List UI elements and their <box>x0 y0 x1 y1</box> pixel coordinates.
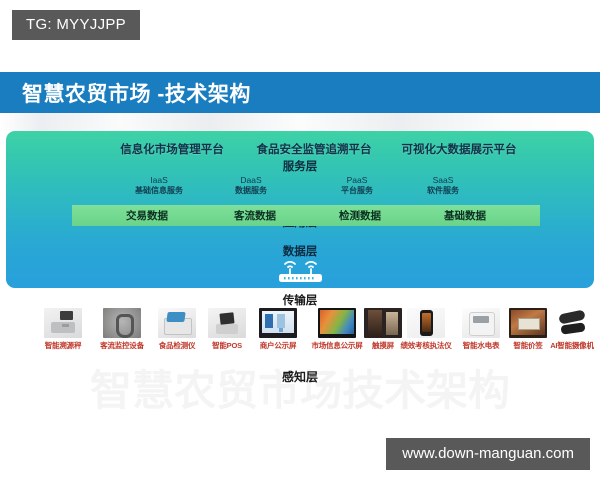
service-iaas-name: IaaS <box>114 175 204 186</box>
data-layer-bar: 交易数据 客流数据 检测数据 基础数据 <box>72 205 540 226</box>
device-label: 智能溯源秤 <box>33 340 93 351</box>
food-detector-icon <box>158 308 196 338</box>
device-label: 食品检测仪 <box>148 340 206 351</box>
law-enforcement-recorder-icon <box>407 308 445 338</box>
slide-canvas: TG: MYYJJPP 智慧农贸市场 -技术架构 信息化市场管理平台 食品安全监… <box>0 0 600 480</box>
service-item-iaas: IaaS 基础信息服务 <box>114 175 204 196</box>
perception-layer-caption: 感知层 <box>0 368 600 385</box>
service-saas-name: SaaS <box>398 175 488 186</box>
transmission-layer-caption: 传输层 <box>0 292 600 308</box>
device-item-smart-pos: 智能POS <box>201 308 253 351</box>
service-item-saas: SaaS 软件服务 <box>398 175 488 196</box>
data-item-inspection: 检测数据 <box>315 208 405 223</box>
smart-pos-icon <box>208 308 246 338</box>
ai-camera-icon <box>553 308 591 338</box>
data-item-basic: 基础数据 <box>420 208 510 223</box>
device-label: 智能水电表 <box>452 340 510 351</box>
smart-price-tag-icon <box>509 308 547 338</box>
data-item-transaction: 交易数据 <box>102 208 192 223</box>
device-item-ai-camera: AI智能摄像机 <box>545 308 599 351</box>
platform-title-1: 信息化市场管理平台 <box>102 141 242 157</box>
service-daas-name: DaaS <box>206 175 296 186</box>
device-item-smart-scale: 智能溯源秤 <box>33 308 93 351</box>
smart-scale-icon <box>44 308 82 338</box>
smart-utility-meter-icon <box>462 308 500 338</box>
people-counter-camera-icon <box>103 308 141 338</box>
service-daas-desc: 数据服务 <box>206 186 296 196</box>
tg-watermark-badge: TG: MYYJJPP <box>12 10 140 40</box>
service-items-row: IaaS 基础信息服务 DaaS 数据服务 PaaS 平台服务 SaaS 软件服… <box>6 175 594 209</box>
service-paas-name: PaaS <box>312 175 402 186</box>
architecture-panel: 信息化市场管理平台 食品安全监管追溯平台 可视化大数据展示平台 服务层 IaaS… <box>6 131 594 288</box>
service-layer-caption: 服务层 <box>6 158 594 174</box>
market-info-screen-icon <box>318 308 356 338</box>
data-item-footfall: 客流数据 <box>210 208 300 223</box>
service-paas-desc: 平台服务 <box>312 186 402 196</box>
device-item-food-detector: 食品检测仪 <box>148 308 206 351</box>
service-iaas-desc: 基础信息服务 <box>114 186 204 196</box>
background-texture-strip <box>0 113 600 131</box>
device-label: 商户公示屏 <box>249 340 307 351</box>
device-item-merchant-screen: 商户公示屏 <box>249 308 307 351</box>
device-strip: 智能溯源秤 客流监控设备 食品检测仪 智能POS 商户公示屏 市场信息公示屏 触… <box>0 308 600 360</box>
page-title: 智慧农贸市场 -技术架构 <box>22 78 251 108</box>
title-bar: 智慧农贸市场 -技术架构 <box>0 72 600 113</box>
service-item-paas: PaaS 平台服务 <box>312 175 402 196</box>
service-item-daas: DaaS 数据服务 <box>206 175 296 196</box>
site-watermark: www.down-manguan.com <box>386 438 590 470</box>
platform-title-2: 食品安全监管追溯平台 <box>244 141 384 157</box>
device-item-people-counter: 客流监控设备 <box>90 308 154 351</box>
device-label: 智能POS <box>201 340 253 351</box>
service-saas-desc: 软件服务 <box>398 186 488 196</box>
wifi-router-icon <box>265 255 335 285</box>
platform-title-3: 可视化大数据展示平台 <box>384 141 534 157</box>
merchant-display-screen-icon <box>259 308 297 338</box>
device-item-utility-meter: 智能水电表 <box>452 308 510 351</box>
device-label: 客流监控设备 <box>90 340 154 351</box>
device-label: AI智能摄像机 <box>545 340 599 351</box>
